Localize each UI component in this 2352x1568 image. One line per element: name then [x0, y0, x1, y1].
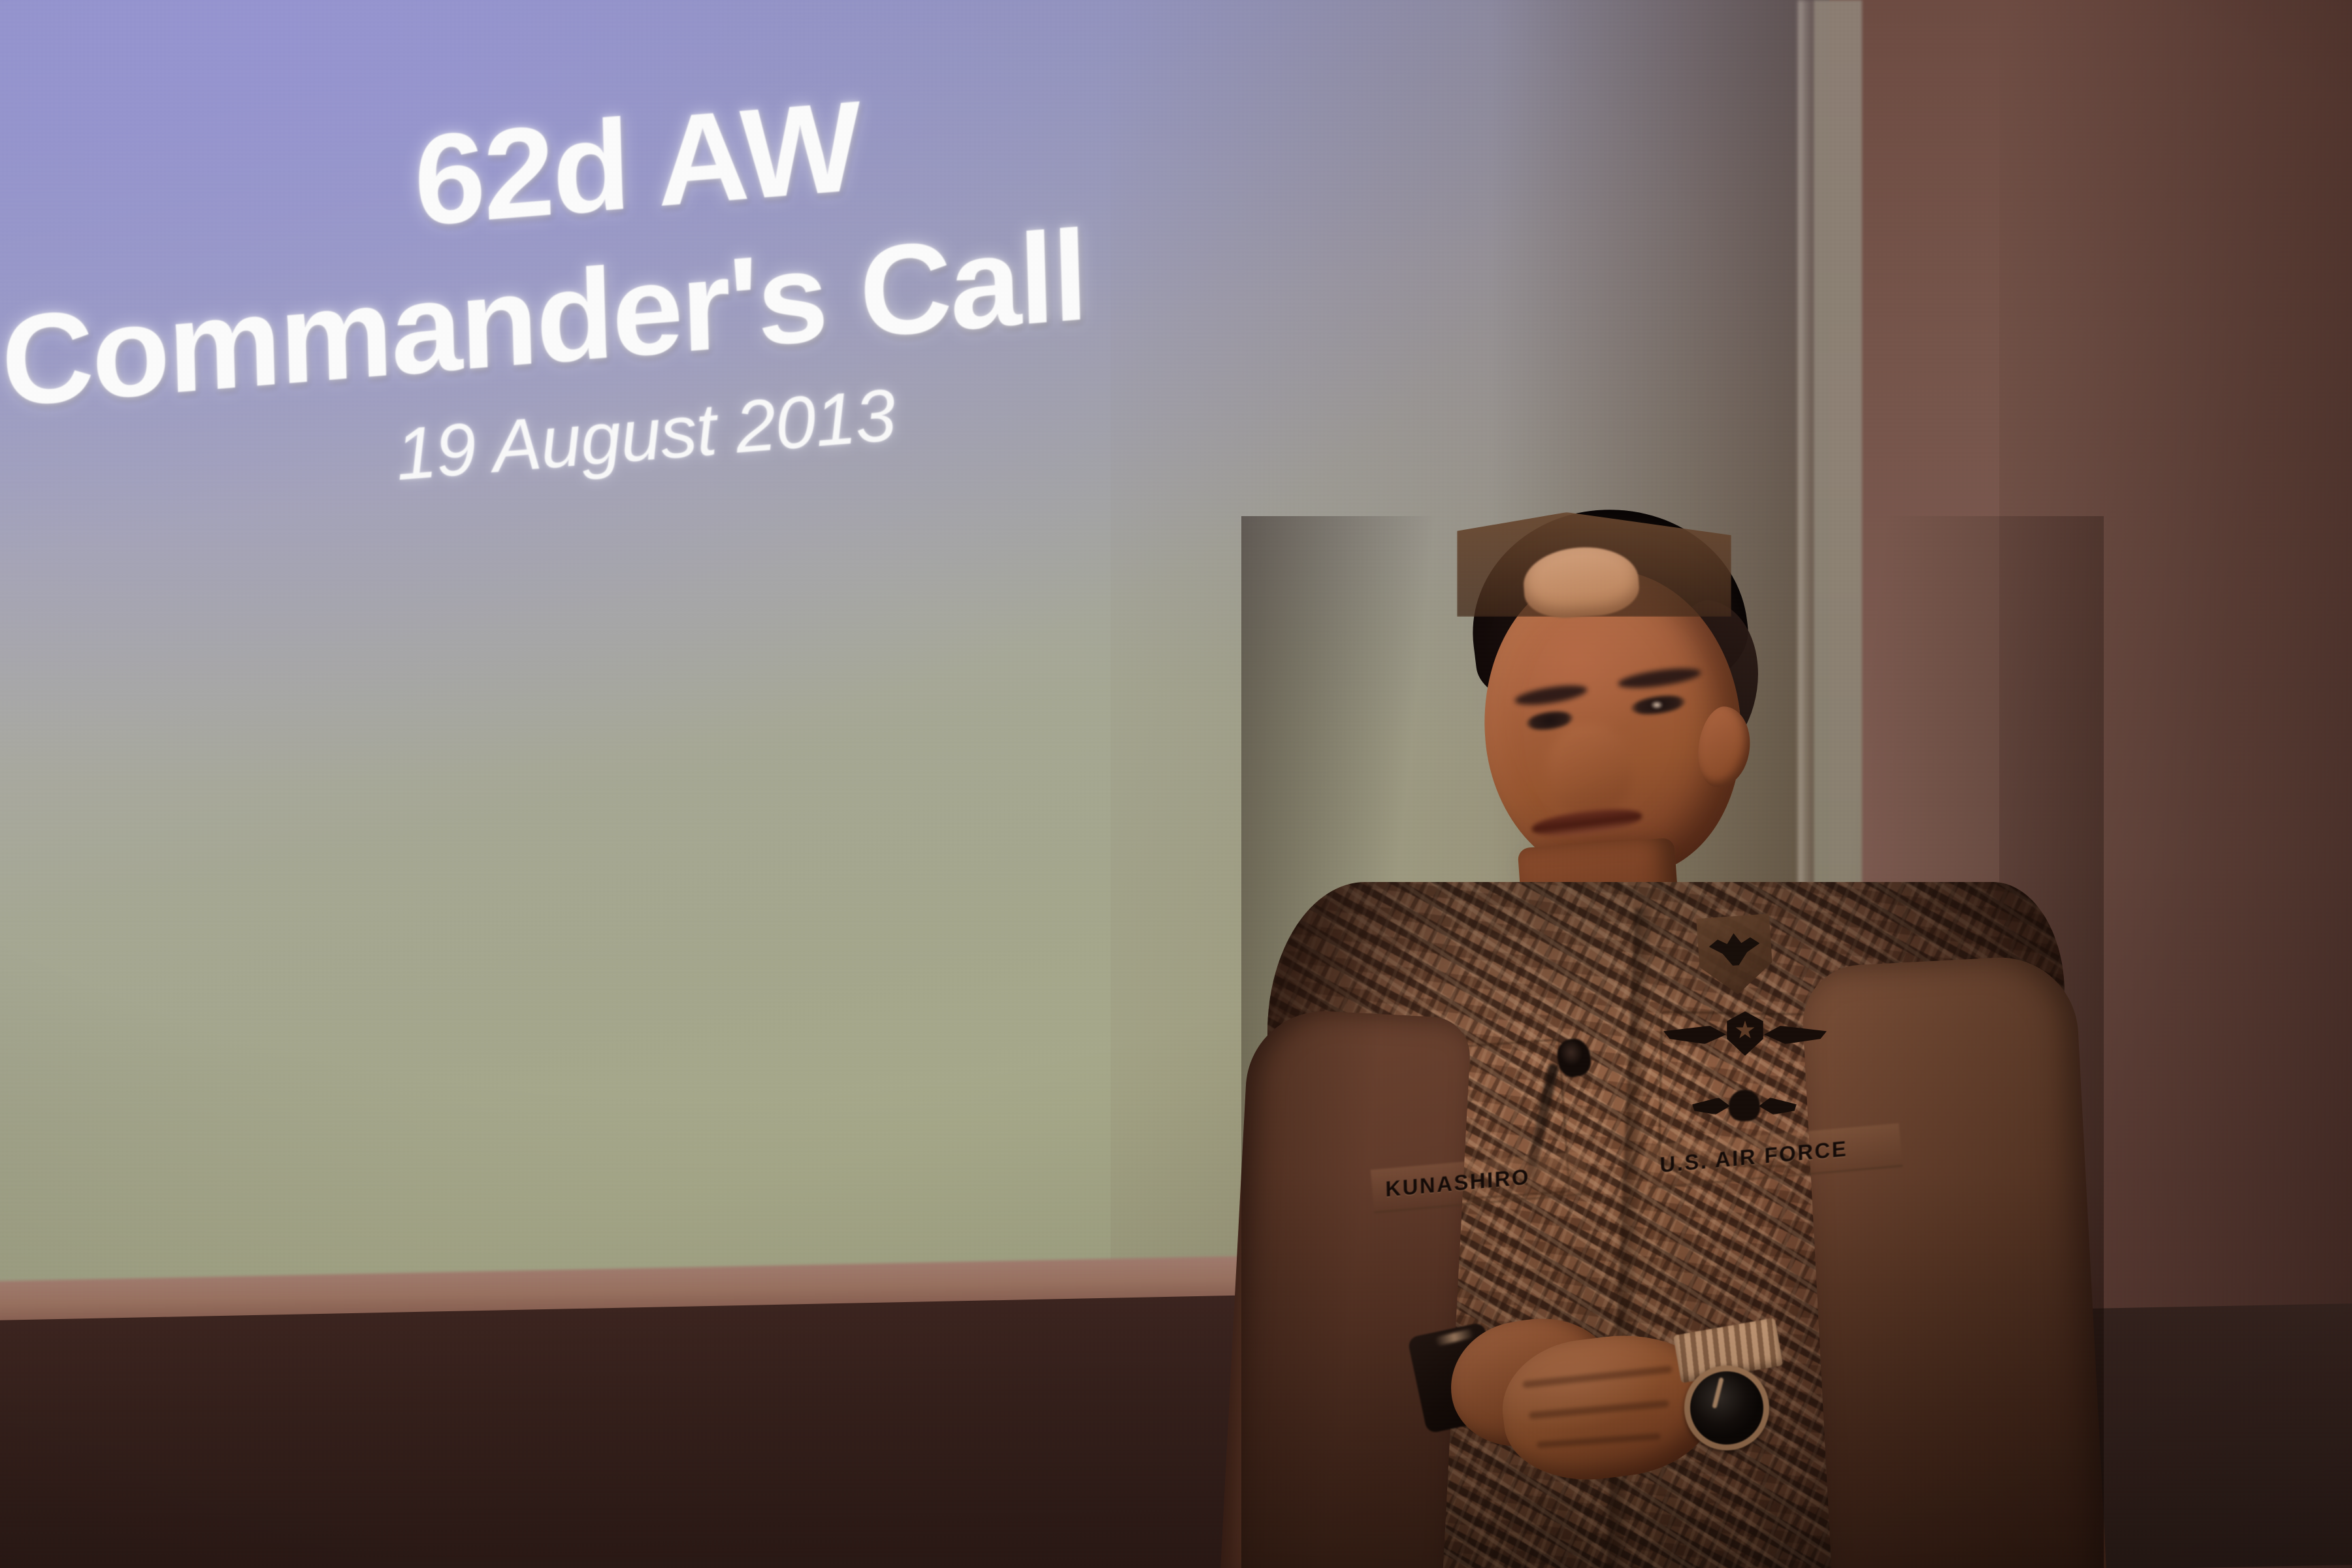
- pilot-wing-right: [1764, 1026, 1827, 1044]
- command-pilot-wings-icon: [1663, 1011, 1827, 1057]
- jump-wing-parachute: [1729, 1090, 1760, 1121]
- pilot-wing-left: [1663, 1026, 1726, 1044]
- subject-officer: KUNASHIRO U.S. AIR FORCE: [1241, 516, 2104, 1568]
- subject-eye-glint: [1650, 700, 1663, 710]
- jump-wing-left: [1692, 1098, 1730, 1115]
- subject-arm-right: [1800, 954, 2107, 1568]
- parachutist-wings-icon: [1692, 1090, 1797, 1124]
- subject-arm-left: [1220, 1007, 1472, 1568]
- jump-wing-right: [1759, 1098, 1797, 1115]
- photo-canvas: 62d AW Commander's Call 19 August 2013: [0, 0, 2352, 1568]
